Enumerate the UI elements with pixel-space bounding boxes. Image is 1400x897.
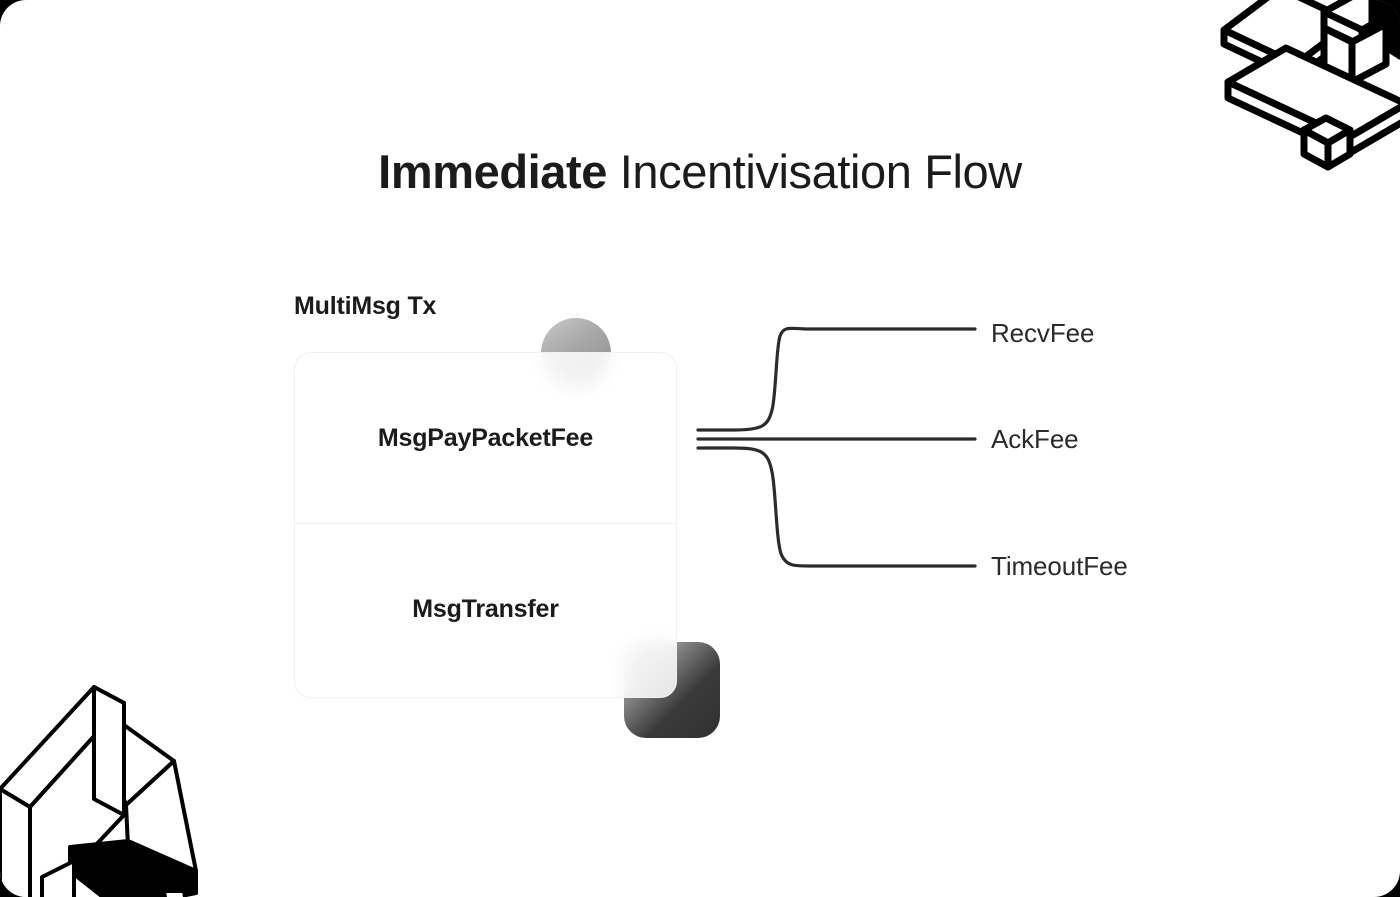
slide-canvas: Immediate Incentivisation Flow MultiMsg … [0, 0, 1400, 897]
message-label: MsgTransfer [412, 595, 558, 624]
multimsg-tx-label: MultiMsg Tx [294, 292, 436, 321]
message-label: MsgPayPacketFee [378, 424, 593, 453]
connector-lines [690, 300, 990, 600]
multimsg-tx-card[interactable]: MsgPayPacketFee MsgTransfer [294, 352, 677, 698]
message-row-transfer[interactable]: MsgTransfer [295, 524, 676, 695]
incentivisation-flow-diagram: MultiMsg Tx MsgPayPacketFee MsgTransfer … [0, 0, 1400, 897]
fee-label-ackfee: AckFee [991, 424, 1079, 455]
connector-line-recvfee [698, 328, 975, 430]
fee-label-recvfee: RecvFee [991, 318, 1094, 349]
fee-label-timeoutfee: TimeoutFee [991, 551, 1128, 582]
connector-line-timeoutfee [698, 448, 975, 566]
message-row-pay-packet-fee[interactable]: MsgPayPacketFee [295, 353, 676, 524]
